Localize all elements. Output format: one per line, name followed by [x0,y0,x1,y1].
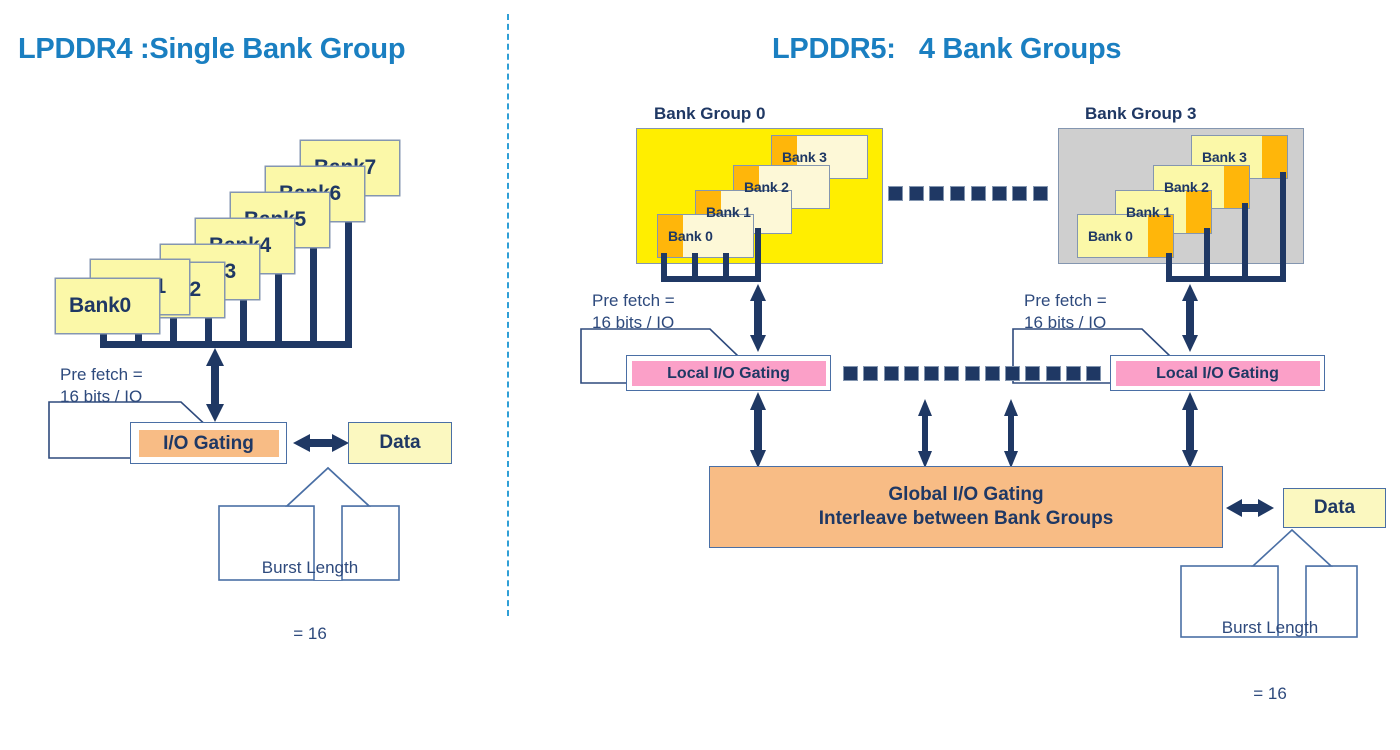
bank-card-label: Bank 0 [1088,228,1133,244]
burst-line-2: = 16 [222,623,398,645]
bank-group-0-card-0[interactable]: Bank 0 [657,214,754,258]
page-title-lpddr4: LPDDR4 :Single Bank Group [18,33,405,66]
prefetch-callout-bg0: Pre fetch = 16 bits / IO [580,284,740,340]
prefetch-line-2: 16 bits / IO [1024,312,1172,334]
dashed-connector-bank-groups [888,186,1048,200]
bg0-stem-3 [755,228,761,281]
arrow-middle-to-global-1 [914,397,936,470]
bank-card-label: Bank 0 [668,228,713,244]
bank-card-strip [1224,166,1249,208]
prefetch-callout-lpddr4: Pre fetch = 16 bits / IO [48,357,208,415]
prefetch-line-1: Pre fetch = [60,364,208,386]
bank-card-label: Bank 3 [1202,149,1247,165]
bank-card-strip [1148,215,1173,257]
arrow-local-io-0-to-global [745,390,771,470]
arrow-middle-to-global-2 [1000,397,1022,470]
arrow-bg3-bus-to-local-io [1176,282,1204,354]
io-gating-box[interactable]: I/O Gating [130,422,287,464]
prefetch-line-1: Pre fetch = [1024,290,1172,312]
bank-card-label: Bank0 [69,294,131,318]
local-io-gating-box-3[interactable]: Local I/O Gating [1110,355,1325,391]
arrow-global-io-to-data [1224,497,1276,519]
bank-card-strip [1186,191,1211,233]
bank-card-label: Bank 2 [744,179,789,195]
arrow-bg0-bus-to-local-io [744,282,772,354]
local-io-gating-label: Local I/O Gating [632,361,826,386]
panel-divider [507,14,509,616]
bank-card-label: Bank 3 [782,149,827,165]
local-io-gating-box-0[interactable]: Local I/O Gating [626,355,831,391]
diagram-canvas: LPDDR4 :Single Bank Group LPDDR5: 4 Bank… [0,0,1400,649]
prefetch-line-2: 16 bits / IO [592,312,740,334]
data-label: Data [1314,496,1355,520]
bank-card-label: Bank 2 [1164,179,1209,195]
data-box-lpddr4[interactable]: Data [348,422,452,464]
prefetch-line-1: Pre fetch = [592,290,740,312]
bank-group-0-label: Bank Group 0 [654,104,765,124]
bank-group-3-label: Bank Group 3 [1085,104,1196,124]
bank-card-0[interactable]: Bank0 [55,278,160,334]
global-io-line-1: Global I/O Gating [888,483,1043,507]
burst-line-1: Burst Length [222,557,398,579]
arrow-local-io-3-to-global [1177,390,1203,470]
bg3-stem-3 [1280,172,1286,281]
dashed-connector-local-io [843,366,1101,380]
burst-length-callout-lpddr5: Burst Length = 16 [1182,573,1358,750]
page-title-lpddr5: LPDDR5: 4 Bank Groups [772,33,1121,66]
global-io-line-2: Interleave between Bank Groups [819,507,1114,531]
burst-length-callout-lpddr4: Burst Length = 16 [222,513,398,690]
io-gating-label: I/O Gating [139,430,279,457]
bank-card-label: Bank 1 [1126,204,1171,220]
prefetch-callout-bg3: Pre fetch = 16 bits / IO [1012,284,1172,340]
arrow-io-to-data [291,432,351,454]
burst-line-2: = 16 [1182,683,1358,705]
bank-card-label: Bank 1 [706,204,751,220]
burst-line-1: Burst Length [1182,617,1358,639]
local-io-gating-label: Local I/O Gating [1116,361,1320,386]
bg3-stem-1 [1204,228,1210,281]
data-box-lpddr5[interactable]: Data [1283,488,1386,528]
data-label: Data [379,431,420,455]
global-io-gating-box[interactable]: Global I/O Gating Interleave between Ban… [709,466,1223,548]
bank-group-3-card-0[interactable]: Bank 0 [1077,214,1174,258]
prefetch-line-2: 16 bits / IO [60,386,208,408]
bg3-stem-2 [1242,203,1248,281]
